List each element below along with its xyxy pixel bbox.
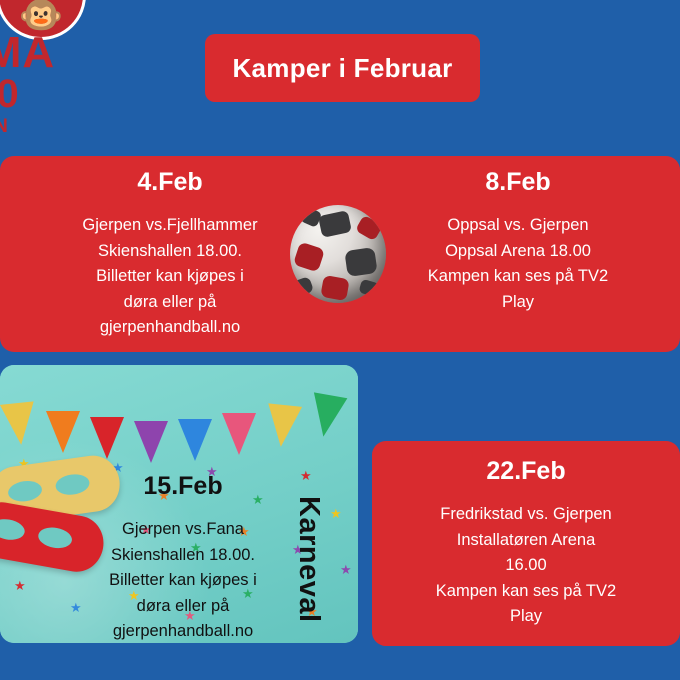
match-details-8feb: Oppsal vs. Gjerpen Oppsal Arena 18.00 Ka… — [388, 213, 648, 315]
match-line: Skienshallen 18.00. — [78, 543, 288, 569]
match-line: gjerpenhandball.no — [78, 619, 288, 645]
match-details-4feb: Gjerpen vs.Fjellhammer Skienshallen 18.0… — [40, 213, 300, 341]
match-line: Play — [388, 290, 648, 316]
poster-canvas: ★ ★ ★ ★ ★ ★ ★ ★ ★ ★ ★ ★ ★ ★ ★ ★ ★ ★ ★ ★ … — [0, 0, 680, 680]
logo-line-3: GAEN — [0, 116, 9, 138]
match-block-15feb: 15.Feb Gjerpen vs.Fana Skienshallen 18.0… — [78, 472, 288, 645]
page-title: Kamper i Februar — [232, 53, 452, 84]
match-date-8feb: 8.Feb — [388, 168, 648, 197]
match-line: Kampen kan ses på TV2 — [384, 579, 668, 605]
match-date-15feb: 15.Feb — [78, 472, 288, 501]
match-line: Gjerpen vs.Fjellhammer — [40, 213, 300, 239]
carnival-label: Karneval — [292, 496, 325, 623]
match-details-15feb: Gjerpen vs.Fana Skienshallen 18.00. Bill… — [78, 517, 288, 645]
logo-line-1: CMA — [0, 28, 55, 78]
match-line: Billetter kan kjøpes i — [78, 568, 288, 594]
match-line: Oppsal Arena 18.00 — [388, 239, 648, 265]
football-icon — [290, 205, 386, 303]
bunting-flags-icon — [0, 379, 358, 439]
logo-line-2: 000 — [0, 72, 20, 117]
match-line: Oppsal vs. Gjerpen — [388, 213, 648, 239]
match-line: 16.00 — [384, 553, 668, 579]
match-line: Fredrikstad vs. Gjerpen — [384, 502, 668, 528]
match-block-22feb: 22.Feb Fredrikstad vs. Gjerpen Installat… — [384, 457, 668, 630]
match-line: Gjerpen vs.Fana — [78, 517, 288, 543]
match-line: døra eller på — [78, 594, 288, 620]
match-line: Kampen kan ses på TV2 — [388, 264, 648, 290]
match-line: Billetter kan kjøpes i — [40, 264, 300, 290]
club-logo: 🐵 CMA 000 GAEN — [0, 0, 136, 152]
match-line: Installatøren Arena — [384, 528, 668, 554]
match-date-22feb: 22.Feb — [384, 457, 668, 486]
match-line: døra eller på — [40, 290, 300, 316]
match-line: Play — [384, 604, 668, 630]
match-details-22feb: Fredrikstad vs. Gjerpen Installatøren Ar… — [384, 502, 668, 630]
match-block-4feb: 4.Feb Gjerpen vs.Fjellhammer Skienshalle… — [40, 168, 300, 341]
match-line: gjerpenhandball.no — [40, 315, 300, 341]
match-date-4feb: 4.Feb — [40, 168, 300, 197]
match-line: Skienshallen 18.00. — [40, 239, 300, 265]
match-block-8feb: 8.Feb Oppsal vs. Gjerpen Oppsal Arena 18… — [388, 168, 648, 315]
title-banner: Kamper i Februar — [205, 34, 480, 102]
